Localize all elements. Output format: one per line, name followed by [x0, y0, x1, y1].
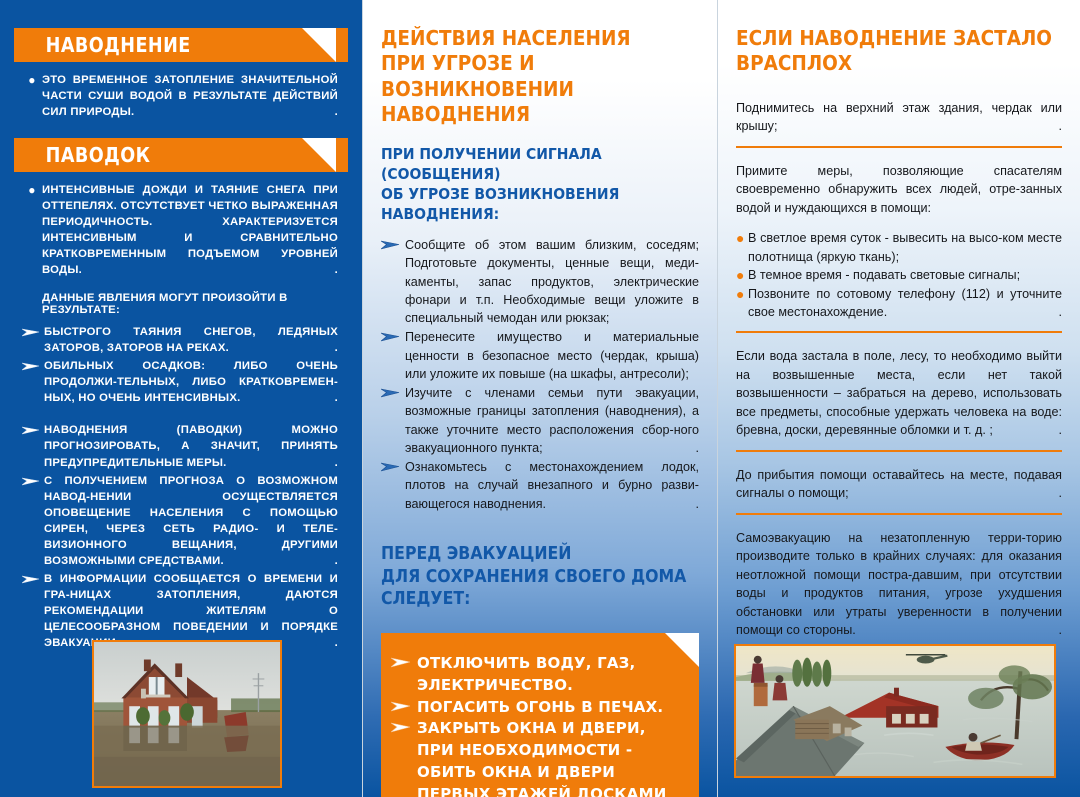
list-item: Сообщите об этом вашим близким, соседям;…	[381, 236, 699, 327]
banner-pavodok-label: ПАВОДОК	[14, 143, 151, 167]
ribbon-fold-icon	[302, 138, 336, 172]
right-paragraph-4: До прибытия помощи оставайтесь на месте,…	[736, 466, 1062, 503]
right-title: ЕСЛИ НАВОДНЕНИЕ ЗАСТАЛО ВРАСПЛОХ	[736, 26, 1062, 77]
middle-title-line3: НАВОДНЕНИЯ	[381, 102, 699, 127]
right-paragraph-1: Поднимитесь на верхний этаж здания, черд…	[736, 99, 1062, 136]
list-item: ● В светлое время суток - вывесить на вы…	[736, 229, 1062, 266]
right-title-line2: ВРАСПЛОХ	[736, 51, 1062, 76]
arrow-bullet-icon	[381, 384, 405, 400]
list-item-text: Ознакомьтесь с местонахождением лодок, п…	[405, 458, 699, 513]
middle-steps-list: Сообщите об этом вашим близким, соседям;…	[381, 236, 699, 513]
list-item-text: В светлое время суток - вывесить на высо…	[748, 229, 1062, 266]
middle-panel: ДЕЙСТВИЯ НАСЕЛЕНИЯ ПРИ УГРОЗЕ И ВОЗНИКНО…	[362, 0, 718, 797]
arrow-bullet-icon	[22, 422, 44, 438]
list-item-text: ЭТО ВРЕМЕННОЕ ЗАТОПЛЕНИЕ ЗНАЧИТЕЛЬНОЙ ЧА…	[42, 72, 338, 120]
right-title-line1: ЕСЛИ НАВОДНЕНИЕ ЗАСТАЛО	[736, 26, 1062, 51]
divider	[736, 331, 1062, 333]
bullet-dot-icon: ●	[736, 285, 748, 322]
banner-pavodok: ПАВОДОК	[14, 138, 348, 172]
list-item: БЫСТРОГО ТАЯНИЯ СНЕГОВ, ЛЕДЯНЫХ ЗАТОРОВ,…	[22, 324, 338, 356]
list-item: ОБИЛЬНЫХ ОСАДКОВ: ЛИБО ОЧЕНЬ ПРОДОЛЖИ-ТЕ…	[22, 358, 338, 406]
list-item: В ИНФОРМАЦИИ СООБЩАЕТСЯ О ВРЕМЕНИ И ГРА-…	[22, 571, 338, 651]
list-item: ЗАКРЫТЬ ОКНА И ДВЕРИ, ПРИ НЕОБХОДИМОСТИ …	[391, 718, 683, 797]
flooded-house-illustration	[94, 642, 280, 786]
navodnenie-definition-block: ● ЭТО ВРЕМЕННОЕ ЗАТОПЛЕНИЕ ЗНАЧИТЕЛЬНОЙ …	[14, 62, 348, 120]
middle-title-line2: ПРИ УГРОЗЕ И ВОЗНИКНОВЕНИИ	[381, 51, 699, 102]
bullet-dot-icon: ●	[22, 182, 42, 278]
list-item: Перенесите имущество и материальные ценн…	[381, 328, 699, 383]
middle-subtitle: ПРИ ПОЛУЧЕНИИ СИГНАЛА (СООБЩЕНИЯ) ОБ УГР…	[381, 144, 699, 225]
rooftop-rescue-photo	[734, 644, 1056, 778]
rooftop-rescue-illustration	[736, 646, 1054, 776]
middle-title-line1: ДЕЙСТВИЯ НАСЕЛЕНИЯ	[381, 26, 699, 51]
list-item: ● ЭТО ВРЕМЕННОЕ ЗАТОПЛЕНИЕ ЗНАЧИТЕЛЬНОЙ …	[22, 72, 338, 120]
middle-section-title-line3: СЛЕДУЕТ:	[381, 588, 699, 611]
pre-evacuation-actions-box: ОТКЛЮЧИТЬ ВОДУ, ГАЗ, ЭЛЕКТРИЧЕСТВО. ПОГА…	[381, 633, 699, 797]
list-item: Изучите с членами семьи пути эвакуации, …	[381, 384, 699, 457]
divider	[736, 450, 1062, 452]
arrow-bullet-icon	[22, 473, 44, 489]
middle-section-title-line2: ДЛЯ СОХРАНЕНИЯ СВОЕГО ДОМА	[381, 566, 699, 589]
pavodok-definition-block: ● ИНТЕНСИВНЫЕ ДОЖДИ И ТАЯНИЕ СНЕГА ПРИ О…	[14, 172, 348, 278]
arrow-bullet-icon	[391, 653, 417, 669]
flood-safety-brochure: НАВОДНЕНИЕ ● ЭТО ВРЕМЕННОЕ ЗАТОПЛЕНИЕ ЗН…	[0, 0, 1080, 797]
right-paragraph-2: Примите меры, позволяющие спасателям сво…	[736, 162, 1062, 218]
left-panel: НАВОДНЕНИЕ ● ЭТО ВРЕМЕННОЕ ЗАТОПЛЕНИЕ ЗН…	[0, 0, 362, 797]
right-paragraph-5: Самоэвакуацию на незатопленную терри-тор…	[736, 529, 1062, 640]
arrow-bullet-icon	[381, 328, 405, 344]
bullet-dot-icon: ●	[22, 72, 42, 120]
list-item-text: ОТКЛЮЧИТЬ ВОДУ, ГАЗ, ЭЛЕКТРИЧЕСТВО.	[417, 653, 683, 697]
arrow-bullet-icon	[381, 236, 405, 252]
list-item: НАВОДНЕНИЯ (ПАВОДКИ) МОЖНО ПРОГНОЗИРОВАТ…	[22, 422, 338, 470]
list-item-text: Изучите с членами семьи пути эвакуации, …	[405, 384, 699, 457]
list-item: С ПОЛУЧЕНИЕМ ПРОГНОЗА О ВОЗМОЖНОМ НАВОД-…	[22, 473, 338, 569]
corner-fold-icon	[665, 633, 699, 667]
facts-list: НАВОДНЕНИЯ (ПАВОДКИ) МОЖНО ПРОГНОЗИРОВАТ…	[14, 422, 348, 650]
divider	[736, 513, 1062, 515]
arrow-bullet-icon	[22, 571, 44, 587]
arrow-bullet-icon	[22, 358, 44, 374]
list-item: ОТКЛЮЧИТЬ ВОДУ, ГАЗ, ЭЛЕКТРИЧЕСТВО.	[391, 653, 683, 697]
arrow-bullet-icon	[381, 458, 405, 474]
list-item-text: ОБИЛЬНЫХ ОСАДКОВ: ЛИБО ОЧЕНЬ ПРОДОЛЖИ-ТЕ…	[44, 358, 338, 406]
middle-subtitle-line1: ПРИ ПОЛУЧЕНИИ СИГНАЛА (СООБЩЕНИЯ)	[381, 144, 699, 184]
list-item-text: В темное время - подавать световые сигна…	[748, 266, 1062, 285]
right-paragraph-3: Если вода застала в поле, лесу, то необх…	[736, 347, 1062, 440]
list-item-text: НАВОДНЕНИЯ (ПАВОДКИ) МОЖНО ПРОГНОЗИРОВАТ…	[44, 422, 338, 470]
middle-section-title-line1: ПЕРЕД ЭВАКУАЦИЕЙ	[381, 543, 699, 566]
causes-list: БЫСТРОГО ТАЯНИЯ СНЕГОВ, ЛЕДЯНЫХ ЗАТОРОВ,…	[14, 324, 348, 406]
banner-navodnenie-label: НАВОДНЕНИЕ	[14, 33, 191, 57]
right-bullets-list: ● В светлое время суток - вывесить на вы…	[736, 229, 1062, 321]
list-item: ● Позвоните по сотовому телефону (112) и…	[736, 285, 1062, 322]
flooded-house-photo	[92, 640, 282, 788]
middle-title: ДЕЙСТВИЯ НАСЕЛЕНИЯ ПРИ УГРОЗЕ И ВОЗНИКНО…	[381, 26, 699, 128]
middle-section-title: ПЕРЕД ЭВАКУАЦИЕЙ ДЛЯ СОХРАНЕНИЯ СВОЕГО Д…	[381, 543, 699, 611]
list-item-text: Перенесите имущество и материальные ценн…	[405, 328, 699, 383]
list-item: Ознакомьтесь с местонахождением лодок, п…	[381, 458, 699, 513]
list-item-text: С ПОЛУЧЕНИЕМ ПРОГНОЗА О ВОЗМОЖНОМ НАВОД-…	[44, 473, 338, 569]
arrow-bullet-icon	[22, 324, 44, 340]
list-item-text: В ИНФОРМАЦИИ СООБЩАЕТСЯ О ВРЕМЕНИ И ГРА-…	[44, 571, 338, 651]
bullet-dot-icon: ●	[736, 266, 748, 285]
banner-navodnenie: НАВОДНЕНИЕ	[14, 28, 348, 62]
arrow-bullet-icon	[391, 718, 417, 734]
causes-intro-note: ДАННЫЕ ЯВЛЕНИЯ МОГУТ ПРОИЗОЙТИ В РЕЗУЛЬТ…	[14, 280, 348, 324]
right-panel: ЕСЛИ НАВОДНЕНИЕ ЗАСТАЛО ВРАСПЛОХ Подними…	[718, 0, 1080, 797]
list-item: ● ИНТЕНСИВНЫЕ ДОЖДИ И ТАЯНИЕ СНЕГА ПРИ О…	[22, 182, 338, 278]
list-item: ● В темное время - подавать световые сиг…	[736, 266, 1062, 285]
list-item-text: Сообщите об этом вашим близким, соседям;…	[405, 236, 699, 327]
list-item-text: ПОГАСИТЬ ОГОНЬ В ПЕЧАХ.	[417, 697, 683, 719]
ribbon-fold-icon	[302, 28, 336, 62]
list-item-text: ЗАКРЫТЬ ОКНА И ДВЕРИ, ПРИ НЕОБХОДИМОСТИ …	[417, 718, 683, 797]
divider	[736, 146, 1062, 148]
bullet-dot-icon: ●	[736, 229, 748, 266]
list-item-text: БЫСТРОГО ТАЯНИЯ СНЕГОВ, ЛЕДЯНЫХ ЗАТОРОВ,…	[44, 324, 338, 356]
list-item-text: ИНТЕНСИВНЫЕ ДОЖДИ И ТАЯНИЕ СНЕГА ПРИ ОТТ…	[42, 182, 338, 278]
middle-subtitle-line2: ОБ УГРОЗЕ ВОЗНИКНОВЕНИЯ НАВОДНЕНИЯ:	[381, 184, 699, 224]
list-item: ПОГАСИТЬ ОГОНЬ В ПЕЧАХ.	[391, 697, 683, 719]
arrow-bullet-icon	[391, 697, 417, 713]
list-item-text: Позвоните по сотовому телефону (112) и у…	[748, 285, 1062, 322]
